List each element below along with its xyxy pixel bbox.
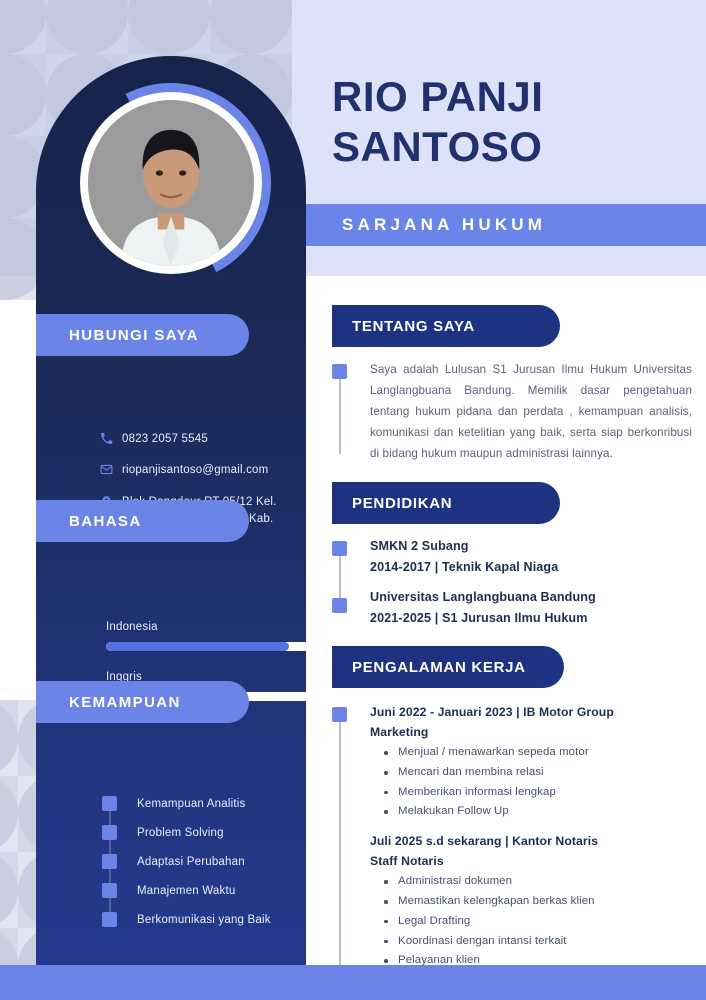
language-item-indonesia: Indonesia [106, 621, 306, 651]
petal-shape [0, 700, 18, 776]
section-heading-experience: PENGALAMAN KERJA [332, 646, 564, 688]
candidate-name: RIO PANJI SANTOSO [332, 72, 692, 171]
experience-duty: Administrasi dokumen [384, 872, 692, 892]
section-heading-skills-label: KEMAMPUAN [36, 694, 181, 711]
about-marker-icon [332, 364, 347, 379]
education-school: Universitas Langlangbuana Bandung [370, 587, 692, 607]
education-marker-icon [332, 598, 347, 613]
cv-page: RIO PANJI SANTOSO SARJANA HUKUM [0, 0, 706, 1000]
section-heading-skills: KEMAMPUAN [36, 681, 249, 723]
experience-item: Juni 2022 - Januari 2023 | IB Motor Grou… [370, 702, 692, 822]
subtitle-text: SARJANA HUKUM [305, 215, 546, 235]
skill-item: Berkomunikasi yang Baik [102, 912, 306, 927]
section-heading-experience-label: PENGALAMAN KERJA [332, 659, 526, 676]
skill-item: Kemampuan Analitis [102, 796, 306, 811]
skill-label: Problem Solving [137, 827, 224, 839]
envelope-icon [100, 462, 122, 476]
language-bar-indonesia [106, 642, 306, 651]
name-line-1: RIO PANJI [332, 72, 692, 122]
phone-icon [100, 431, 122, 445]
skill-bullet-icon [102, 825, 117, 840]
section-heading-contact: HUBUNGI SAYA [36, 314, 249, 356]
skill-item: Problem Solving [102, 825, 306, 840]
education-detail: 2014-2017 | Teknik Kapal Niaga [370, 557, 692, 577]
experience-body: Juni 2022 - Januari 2023 | IB Motor Grou… [332, 702, 692, 991]
skill-item: Manajemen Waktu [102, 883, 306, 898]
bottom-accent-bar [0, 965, 706, 1000]
experience-connector-line [339, 722, 341, 972]
experience-duty: Koordinasi dengan intansi terkait [384, 932, 692, 952]
skill-bullet-icon [102, 854, 117, 869]
about-connector-line [339, 379, 341, 454]
experience-duty: Mencari dan membina relasi [384, 763, 692, 783]
experience-role: Staff Notaris [370, 851, 692, 871]
petal-shape [0, 852, 18, 928]
experience-period: Juni 2022 - Januari 2023 | IB Motor Grou… [370, 702, 692, 722]
petal-shape [0, 776, 18, 852]
section-heading-contact-label: HUBUNGI SAYA [36, 327, 199, 344]
about-body: Saya adalah Lulusan S1 Jurusan Ilmu Huku… [332, 359, 692, 464]
contact-item-phone[interactable]: 0823 2057 5545 [100, 431, 300, 448]
petal-shape [0, 700, 18, 776]
petal-shape [0, 852, 18, 928]
skill-label: Adaptasi Perubahan [137, 856, 245, 868]
skill-item: Adaptasi Perubahan [102, 854, 306, 869]
experience-duty: Menjual / menawarkan sepeda motor [384, 743, 692, 763]
contact-item-email[interactable]: riopanjisantoso@gmail.com [100, 462, 300, 479]
language-name-indonesia: Indonesia [106, 621, 306, 633]
section-heading-education: PENDIDIKAN [332, 482, 560, 524]
skill-label: Manajemen Waktu [137, 885, 235, 897]
contact-email-value: riopanjisantoso@gmail.com [122, 462, 268, 479]
section-heading-education-label: PENDIDIKAN [332, 495, 452, 512]
section-heading-languages: BAHASA [36, 500, 249, 542]
contact-phone-value: 0823 2057 5545 [122, 431, 208, 448]
about-text: Saya adalah Lulusan S1 Jurusan Ilmu Huku… [370, 359, 692, 464]
education-item: SMKN 2 Subang 2014-2017 | Teknik Kapal N… [370, 536, 692, 577]
education-school: SMKN 2 Subang [370, 536, 692, 556]
experience-duty: Melakukan Follow Up [384, 802, 692, 822]
language-bar-fill-indonesia [106, 642, 289, 651]
avatar-photo [88, 100, 254, 266]
skill-list: Kemampuan Analitis Problem Solving Adapt… [102, 796, 306, 941]
name-line-2: SANTOSO [332, 122, 692, 172]
experience-duty: Legal Drafting [384, 912, 692, 932]
education-detail: 2021-2025 | S1 Jurusan Ilmu Hukum [370, 608, 692, 628]
skill-bullet-icon [102, 883, 117, 898]
education-item: Universitas Langlangbuana Bandung 2021-2… [370, 587, 692, 628]
section-heading-languages-label: BAHASA [36, 513, 142, 530]
experience-duty: Memastikan kelengkapan berkas klien [384, 892, 692, 912]
experience-period: Juli 2025 s.d sekarang | Kantor Notaris [370, 831, 692, 851]
experience-duty: Memberikan informasi lengkap [384, 783, 692, 803]
skill-label: Berkomunikasi yang Baik [137, 914, 271, 926]
sidebar: HUBUNGI SAYA 0823 2057 5545 [36, 56, 306, 965]
education-marker-icon [332, 541, 347, 556]
experience-role: Marketing [370, 722, 692, 742]
section-heading-about: TENTANG SAYA [332, 305, 560, 347]
petal-shape [0, 776, 18, 852]
subtitle-band: SARJANA HUKUM [305, 204, 706, 246]
education-body: SMKN 2 Subang 2014-2017 | Teknik Kapal N… [332, 536, 692, 628]
experience-duty-list: Menjual / menawarkan sepeda motor Mencar… [370, 743, 692, 822]
section-heading-about-label: TENTANG SAYA [332, 318, 475, 335]
skill-label: Kemampuan Analitis [137, 798, 245, 810]
avatar [71, 83, 271, 283]
experience-marker-icon [332, 707, 347, 722]
skill-bullet-icon [102, 796, 117, 811]
main-content: TENTANG SAYA Saya adalah Lulusan S1 Juru… [332, 305, 692, 1000]
skill-bullet-icon [102, 912, 117, 927]
